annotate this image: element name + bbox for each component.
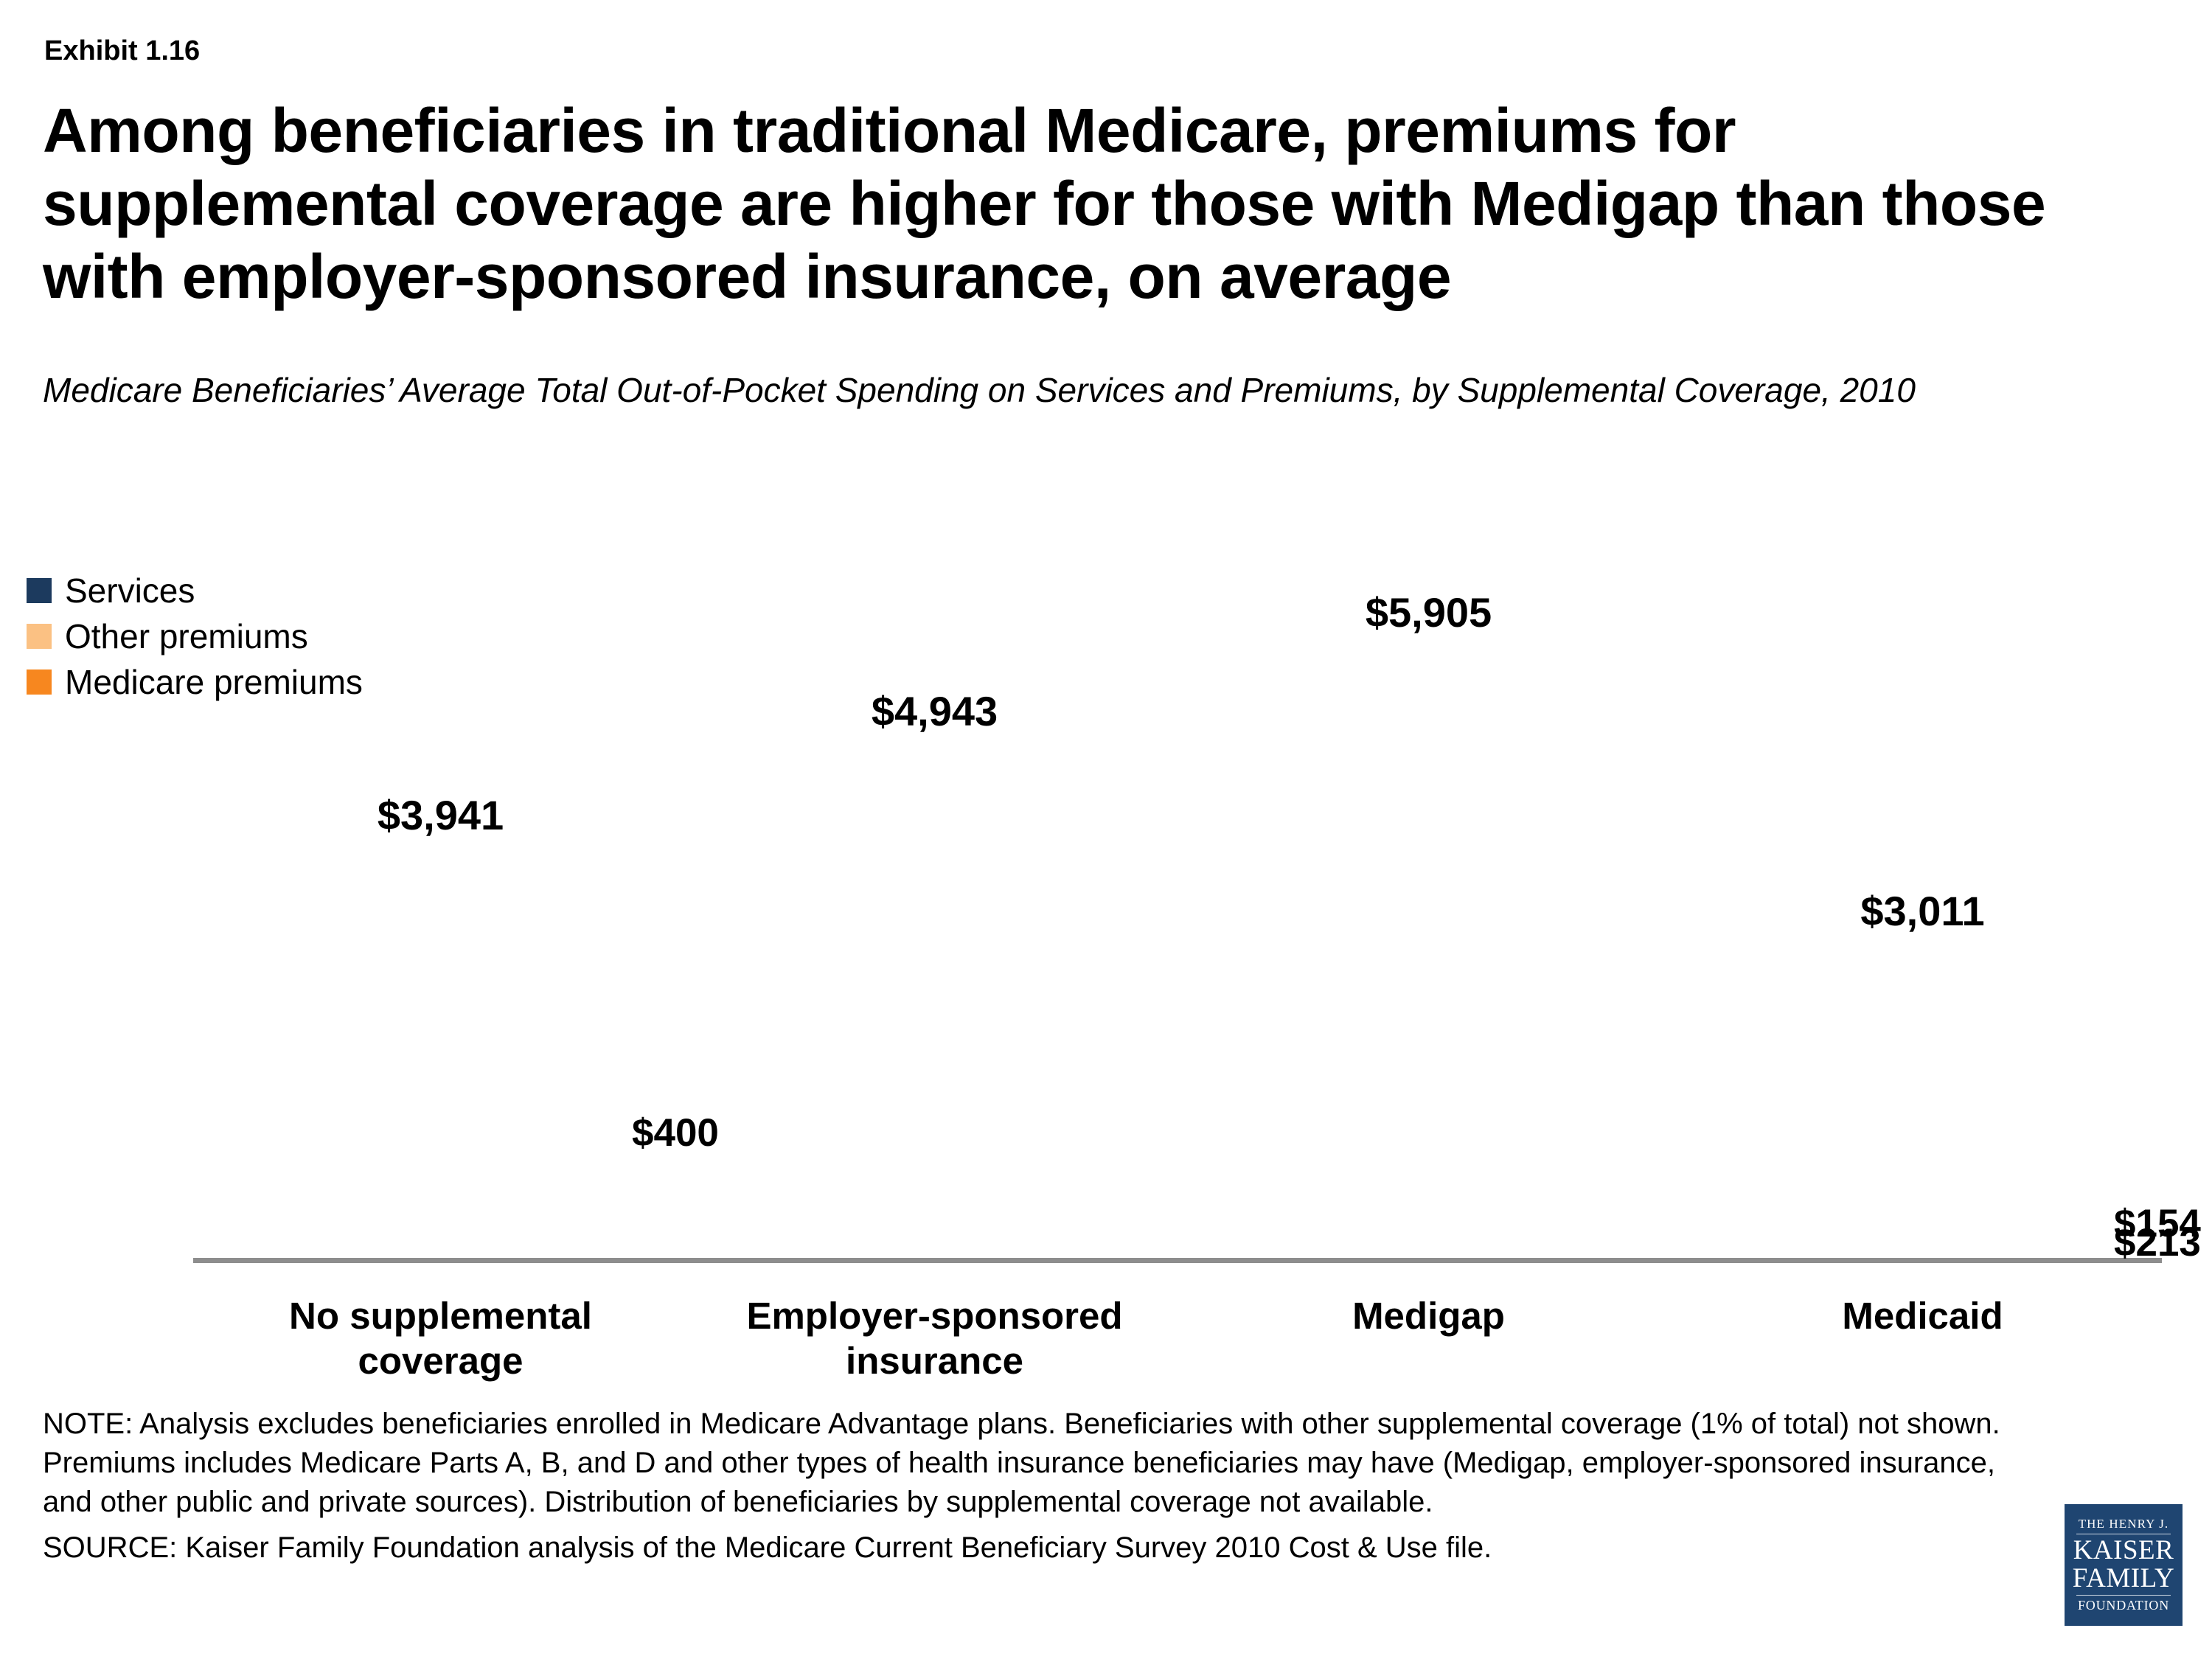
x-axis-category-label: Employer-sponsoredinsurance xyxy=(708,1293,1161,1383)
bar-total-value: $3,011 xyxy=(1740,887,2105,935)
chart-canvas: Exhibit 1.16 Among beneficiaries in trad… xyxy=(0,0,2212,1659)
x-axis-category-label: Medicaid xyxy=(1696,1293,2149,1338)
x-axis-category-line: No supplemental xyxy=(214,1293,667,1338)
logo-line-kaiser: KAISER xyxy=(2073,1537,2174,1565)
bar-total-value: $4,943 xyxy=(752,687,1117,735)
logo-line-foundation: FOUNDATION xyxy=(2078,1598,2169,1613)
note-text: NOTE: Analysis excludes beneficiaries en… xyxy=(43,1405,2034,1523)
bar-group[interactable]: $5,905Medigap xyxy=(1246,649,1611,1258)
x-axis-category-line: Medicaid xyxy=(1696,1293,2149,1338)
bar-group[interactable]: $4,943Employer-sponsoredinsurance xyxy=(752,748,1117,1258)
bar-group[interactable]: $3,011Medicaid xyxy=(1740,947,2105,1258)
kaiser-family-foundation-logo: THE HENRY J. KAISER FAMILY FOUNDATION xyxy=(2065,1504,2183,1626)
x-axis-category-line: Medigap xyxy=(1202,1293,1655,1338)
bar-total-value: $5,905 xyxy=(1246,588,1611,636)
logo-divider-top xyxy=(2076,1534,2171,1534)
x-axis-line xyxy=(193,1258,2162,1263)
bar-group[interactable]: $3,941No supplementalcoverage xyxy=(258,852,623,1258)
x-axis-category-line: coverage xyxy=(214,1338,667,1383)
source-text: SOURCE: Kaiser Family Foundation analysi… xyxy=(43,1528,2034,1568)
footnotes: NOTE: Analysis excludes beneficiaries en… xyxy=(43,1405,2034,1568)
x-axis-category-line: insurance xyxy=(708,1338,1161,1383)
bar-segment-value-outside: $154 xyxy=(2114,1201,2201,1246)
x-axis-category-line: Employer-sponsored xyxy=(708,1293,1161,1338)
logo-line-family: FAMILY xyxy=(2073,1565,2174,1593)
logo-divider-bottom xyxy=(2076,1595,2171,1596)
x-axis-category-label: No supplementalcoverage xyxy=(214,1293,667,1383)
bar-segment-value-outside: $400 xyxy=(632,1110,719,1155)
logo-line-henry-j: THE HENRY J. xyxy=(2079,1517,2169,1531)
bar-total-value: $3,941 xyxy=(258,791,623,839)
x-axis-category-label: Medigap xyxy=(1202,1293,1655,1338)
